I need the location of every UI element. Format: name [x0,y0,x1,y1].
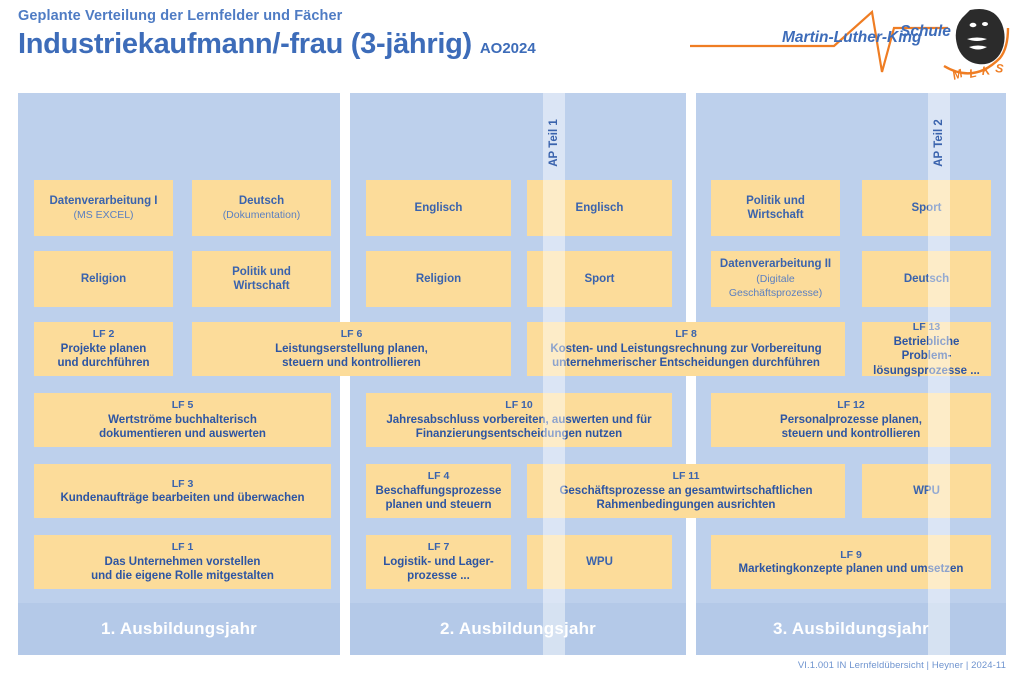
year-footer-3: 3. Ausbildungsjahr [696,603,1006,655]
lernfeld-card-lf9[interactable]: LF 9 Marketingkonzepte planen und umsetz… [711,535,991,589]
svg-text:L: L [968,66,978,81]
lf-number: LF 10 [505,398,532,413]
ordinance-code: AO2024 [480,40,536,57]
lf-number: LF 6 [341,327,363,342]
lf-number: LF 9 [840,548,862,563]
lernfeld-card-lf6[interactable]: LF 6 Leistungserstellung planen,steuern … [192,322,511,376]
lernfeld-card-lf7[interactable]: LF 7 Logistik- und Lager-prozesse ... [366,535,511,589]
lf-description: Kundenaufträge bearbeiten und überwachen [60,491,304,506]
subject-card-deutsch-2[interactable]: Deutsch [862,251,991,307]
lernfeld-card-lf13[interactable]: LF 13 Betriebliche Problem-lösungsprozes… [862,322,991,376]
card-subtitle: (DigitaleGeschäftsprozesse) [729,272,822,301]
subject-card-wpu-2[interactable]: WPU [527,535,672,589]
lf-number: LF 12 [837,398,864,413]
subject-card-datenverarbeitung-2[interactable]: Datenverarbeitung II (DigitaleGeschäftsp… [711,251,840,307]
lf-description: Personalprozesse planen,steuern und kont… [780,413,922,442]
subject-card-datenverarbeitung-1[interactable]: Datenverarbeitung I (MS EXCEL) [34,180,173,236]
lf-number: LF 2 [93,327,115,342]
subject-card-religion-1[interactable]: Religion [34,251,173,307]
subject-card-sport-1[interactable]: Sport [527,251,672,307]
card-title: Deutsch [904,272,949,287]
year-footer-2: 2. Ausbildungsjahr [350,603,686,655]
year-footer-1: 1. Ausbildungsjahr [18,603,340,655]
page-header: Geplante Verteilung der Lernfelder und F… [0,0,1024,93]
subject-card-religion-2[interactable]: Religion [366,251,511,307]
lernfeld-card-lf5[interactable]: LF 5 Wertströme buchhalterischdokumentie… [34,393,331,447]
lf-number: LF 4 [428,469,450,484]
card-title: Datenverarbeitung II [720,257,831,272]
header-text-block: Geplante Verteilung der Lernfelder und F… [18,6,536,61]
lernfeld-card-lf8[interactable]: LF 8 Kosten- und Leistungsrechnung zur V… [527,322,845,376]
card-title: WPU [586,555,613,570]
card-title: Englisch [576,201,624,216]
lernfeld-card-lf10[interactable]: LF 10 Jahresabschluss vorbereiten, auswe… [366,393,672,447]
card-title: Politik undWirtschaft [746,194,805,223]
card-title: Sport [911,201,941,216]
svg-text:S: S [995,61,1004,76]
lf-description: Jahresabschluss vorbereiten, auswerten u… [386,413,651,442]
lf-description: Marketingkonzepte planen und umsetzen [739,562,964,577]
lf-number: LF 1 [172,540,194,555]
lernfeld-card-lf4[interactable]: LF 4 Beschaffungsprozesseplanen und steu… [366,464,511,518]
lernfeld-card-lf11[interactable]: LF 11 Geschäftsprozesse an gesamtwirtsch… [527,464,845,518]
card-title: Sport [584,272,614,287]
lf-description: Betriebliche Problem-lösungsprozesse ... [868,335,985,379]
subject-card-politik-wirtschaft-1[interactable]: Politik undWirtschaft [192,251,331,307]
card-title: Religion [81,272,126,287]
card-subtitle: (Dokumentation) [223,208,301,223]
year-footer-label-3: 3. Ausbildungsjahr [773,619,929,639]
subject-card-deutsch-1[interactable]: Deutsch (Dokumentation) [192,180,331,236]
school-logo: Martin-Luther-King Schule M L K S [686,6,1016,86]
subject-card-wpu-3[interactable]: WPU [862,464,991,518]
subject-card-englisch-1[interactable]: Englisch [366,180,511,236]
subject-card-englisch-2[interactable]: Englisch [527,180,672,236]
lernfeld-card-lf2[interactable]: LF 2 Projekte planenund durchführen [34,322,173,376]
year-footer-label-2: 2. Ausbildungsjahr [440,619,596,639]
page-title: Industriekaufmann/-frau (3-jährig) [18,27,472,61]
svg-text:M: M [950,66,965,83]
lernfeld-card-lf1[interactable]: LF 1 Das Unternehmen vorstellenund die e… [34,535,331,589]
page-subtitle: Geplante Verteilung der Lernfelder und F… [18,6,536,26]
card-subtitle: (MS EXCEL) [73,208,133,223]
lernfeld-card-lf12[interactable]: LF 12 Personalprozesse planen,steuern un… [711,393,991,447]
lf-number: LF 3 [172,477,194,492]
card-title: Deutsch [239,194,284,209]
lf-description: Projekte planenund durchführen [58,342,150,371]
lf-description: Beschaffungsprozesseplanen und steuern [376,484,502,513]
lernfeld-card-lf3[interactable]: LF 3 Kundenaufträge bearbeiten und überw… [34,464,331,518]
card-title: Englisch [415,201,463,216]
subject-card-sport-2[interactable]: Sport [862,180,991,236]
card-title: Datenverarbeitung I [50,194,158,209]
lf-number: LF 5 [172,398,194,413]
lf-number: LF 7 [428,540,450,555]
lf-description: Geschäftsprozesse an gesamtwirtschaftlic… [559,484,812,513]
page-title-row: Industriekaufmann/-frau (3-jährig) AO202… [18,27,536,61]
lf-number: LF 8 [675,327,697,342]
subject-card-politik-wirtschaft-2[interactable]: Politik undWirtschaft [711,180,840,236]
logo-name-right: Schule [900,23,951,40]
card-title: Politik undWirtschaft [232,265,291,294]
lf-description: Kosten- und Leistungsrechnung zur Vorber… [550,342,821,371]
lf-description: Wertströme buchhalterischdokumentieren u… [99,413,266,442]
lf-description: Leistungserstellung planen,steuern und k… [275,342,428,371]
lf-description: Logistik- und Lager-prozesse ... [383,555,494,584]
lf-number: LF 13 [913,320,940,335]
lf-number: LF 11 [673,469,700,484]
card-title: WPU [913,484,940,499]
card-title: Religion [416,272,461,287]
year-footer-label-1: 1. Ausbildungsjahr [101,619,257,639]
lf-description: Das Unternehmen vorstellenund die eigene… [91,555,274,584]
credit-line: VI.1.001 IN Lernfeldübersicht | Heyner |… [798,660,1006,671]
